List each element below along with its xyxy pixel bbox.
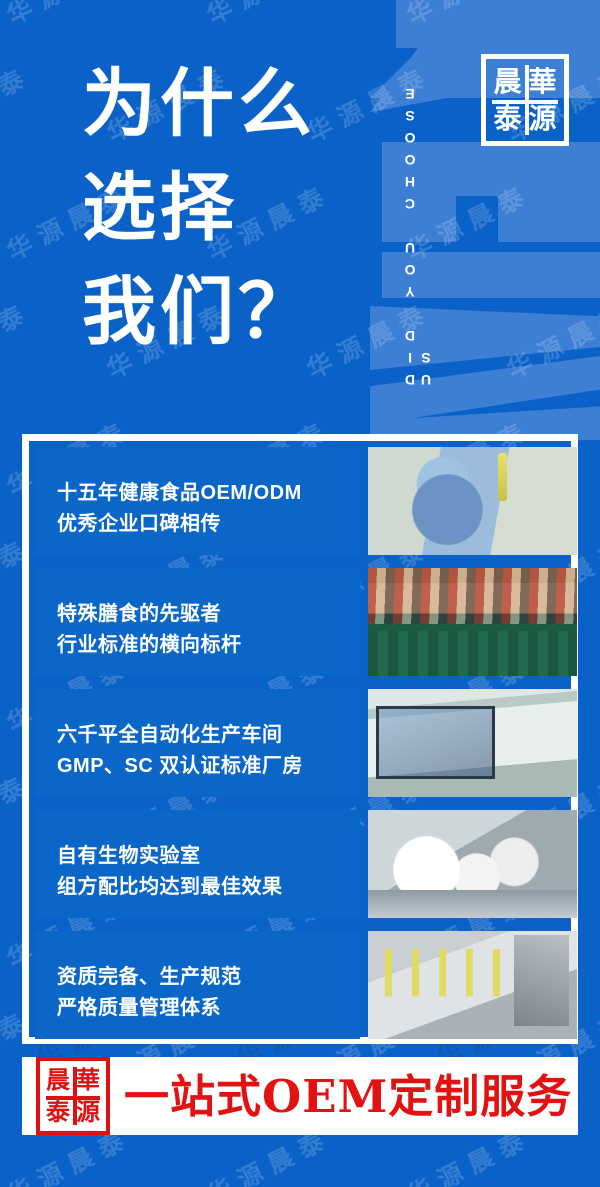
feature-card[interactable]: 六千平全自动化生产车间 GMP、SC 双认证标准厂房 bbox=[35, 689, 577, 797]
feature-card-line-1: 资质完备、生产规范 bbox=[57, 962, 360, 993]
feature-card-line-1: 十五年健康食品OEM/ODM bbox=[57, 478, 360, 509]
footer-slogan-text: 一站式OEM定制服务 bbox=[124, 1074, 572, 1119]
feature-card-image-blister-packaging bbox=[368, 931, 577, 1039]
feature-card-text: 十五年健康食品OEM/ODM 优秀企业口碑相传 bbox=[35, 447, 360, 555]
feature-card[interactable]: 资质完备、生产规范 严格质量管理体系 bbox=[35, 931, 577, 1039]
feature-card-image-production-line bbox=[368, 810, 577, 918]
seal-char-3: 泰 bbox=[490, 100, 525, 137]
feature-card-list: 十五年健康食品OEM/ODM 优秀企业口碑相传 特殊膳食的先驱者 行业标准的横向… bbox=[35, 447, 577, 1052]
footer-seal-char-1: 晨 bbox=[43, 1064, 73, 1096]
feature-card-text: 自有生物实验室 组方配比均达到最佳效果 bbox=[35, 810, 360, 918]
title-line-2: 选择 bbox=[82, 156, 382, 260]
page-title: 为什么 选择 我们？ bbox=[82, 52, 382, 364]
footer-banner: 晨 華 泰 源 一站式OEM定制服务 bbox=[22, 1057, 578, 1135]
title-line-1: 为什么 bbox=[82, 52, 382, 156]
feature-card[interactable]: 自有生物实验室 组方配比均达到最佳效果 bbox=[35, 810, 577, 918]
footer-seal-divider-horizontal bbox=[46, 1096, 100, 1100]
footer-seal-char-3: 泰 bbox=[43, 1096, 73, 1128]
footer-seal-logo: 晨 華 泰 源 bbox=[36, 1057, 110, 1135]
feature-card-line-1: 自有生物实验室 bbox=[57, 841, 360, 872]
feature-card-line-1: 特殊膳食的先驱者 bbox=[57, 599, 360, 630]
feature-card-line-2: GMP、SC 双认证标准厂房 bbox=[57, 751, 360, 782]
feature-card-text: 六千平全自动化生产车间 GMP、SC 双认证标准厂房 bbox=[35, 689, 360, 797]
poster-root: 为什么 选择 我们？ DID YOU CHOOSE US 晨 華 泰 源 十五年… bbox=[0, 0, 600, 1187]
seal-char-4: 源 bbox=[525, 100, 560, 137]
footer-seal-char-2: 華 bbox=[73, 1064, 103, 1096]
feature-card-line-2: 优秀企业口碑相传 bbox=[57, 509, 360, 540]
seal-char-2: 華 bbox=[525, 63, 560, 100]
feature-card[interactable]: 特殊膳食的先驱者 行业标准的横向标杆 bbox=[35, 568, 577, 676]
footer-seal-char-4: 源 bbox=[73, 1096, 103, 1128]
feature-card-text: 资质完备、生产规范 严格质量管理体系 bbox=[35, 931, 360, 1039]
seal-divider-horizontal bbox=[492, 100, 558, 104]
poster-header: 为什么 选择 我们？ DID YOU CHOOSE US 晨 華 泰 源 bbox=[0, 0, 600, 432]
feature-card-text: 特殊膳食的先驱者 行业标准的横向标杆 bbox=[35, 568, 360, 676]
feature-card-image-cleanroom bbox=[368, 689, 577, 797]
title-line-3: 我们？ bbox=[82, 260, 382, 364]
brand-seal-logo: 晨 華 泰 源 bbox=[481, 54, 569, 146]
seal-char-1: 晨 bbox=[490, 63, 525, 100]
vertical-eyebrow-text: DID YOU CHOOSE US bbox=[400, 18, 434, 388]
feature-card-image-lab-technician bbox=[368, 447, 577, 555]
feature-card-image-conference bbox=[368, 568, 577, 676]
feature-card-line-1: 六千平全自动化生产车间 bbox=[57, 720, 360, 751]
feature-card-line-2: 组方配比均达到最佳效果 bbox=[57, 872, 360, 903]
feature-card[interactable]: 十五年健康食品OEM/ODM 优秀企业口碑相传 bbox=[35, 447, 577, 555]
feature-card-line-2: 严格质量管理体系 bbox=[57, 993, 360, 1024]
feature-card-line-2: 行业标准的横向标杆 bbox=[57, 630, 360, 661]
